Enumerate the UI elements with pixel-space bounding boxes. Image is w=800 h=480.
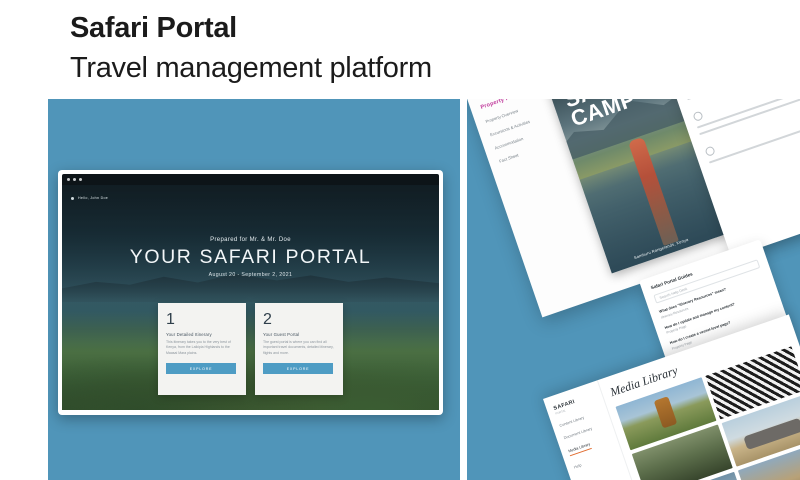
sidebar-item-document-library[interactable]: Document Library bbox=[563, 422, 605, 440]
page-subtitle: Travel management platform bbox=[70, 48, 432, 88]
left-showcase-panel: Hello, John Doe Prepared for Mr. & Mr. D… bbox=[48, 99, 460, 480]
portal-card[interactable]: 1 Your Detailed Itinerary This itinerary… bbox=[158, 303, 246, 395]
card-description: This itinerary takes you to the very bes… bbox=[166, 340, 238, 356]
right-showcase-panel: Media & Content Library Property Page Pr… bbox=[467, 99, 800, 480]
hero-kicker: Prepared for Mr. & Mr. Doe bbox=[62, 237, 439, 243]
hero-text-block: Prepared for Mr. & Mr. Doe YOUR SAFARI P… bbox=[62, 237, 439, 278]
text-line bbox=[687, 99, 800, 100]
browser-title-bar bbox=[62, 174, 439, 185]
portal-topbar: Hello, John Doe bbox=[62, 185, 439, 211]
card-number: 1 bbox=[166, 311, 238, 328]
page-title: Safari Portal bbox=[70, 8, 432, 48]
greeting-label: Hello, John Doe bbox=[78, 196, 108, 200]
explore-button[interactable]: EXPLORE bbox=[166, 363, 236, 374]
portal-cards: 1 Your Detailed Itinerary This itinerary… bbox=[62, 303, 439, 395]
card-title: Your Guest Portal bbox=[263, 332, 335, 337]
explore-button[interactable]: EXPLORE bbox=[263, 363, 333, 374]
property-sidebar: Property Page Property Overview Excursio… bbox=[480, 99, 559, 164]
hero-dates: August 20 - September 2, 2021 bbox=[62, 272, 439, 278]
window-close-dot[interactable] bbox=[67, 178, 70, 181]
sidebar-item-media-library[interactable]: Media Library bbox=[568, 442, 592, 456]
portal-hero: Hello, John Doe Prepared for Mr. & Mr. D… bbox=[62, 185, 439, 410]
portal-card[interactable]: 2 Your Guest Portal The guest portal is … bbox=[255, 303, 343, 395]
cloud-upload-icon[interactable] bbox=[692, 110, 703, 121]
page-heading: Safari Portal Travel management platform bbox=[70, 8, 432, 88]
cover-title-line-2: CAMP bbox=[568, 99, 638, 130]
page-root: Safari Portal Travel management platform… bbox=[0, 0, 800, 480]
globe-icon[interactable] bbox=[704, 145, 715, 156]
card-description: The guest portal is where you can find a… bbox=[263, 340, 335, 356]
samburu-warrior-figure bbox=[628, 137, 679, 246]
card-number: 2 bbox=[263, 311, 335, 328]
sidebar-item-help[interactable]: Help bbox=[573, 452, 615, 470]
card-title: Your Detailed Itinerary bbox=[166, 332, 238, 337]
window-maximize-dot[interactable] bbox=[79, 178, 82, 181]
window-minimize-dot[interactable] bbox=[73, 178, 76, 181]
hero-title: YOUR SAFARI PORTAL bbox=[62, 246, 439, 268]
avatar bbox=[71, 197, 74, 200]
browser-mockup: Hello, John Doe Prepared for Mr. & Mr. D… bbox=[58, 170, 443, 415]
text-line bbox=[699, 99, 800, 135]
